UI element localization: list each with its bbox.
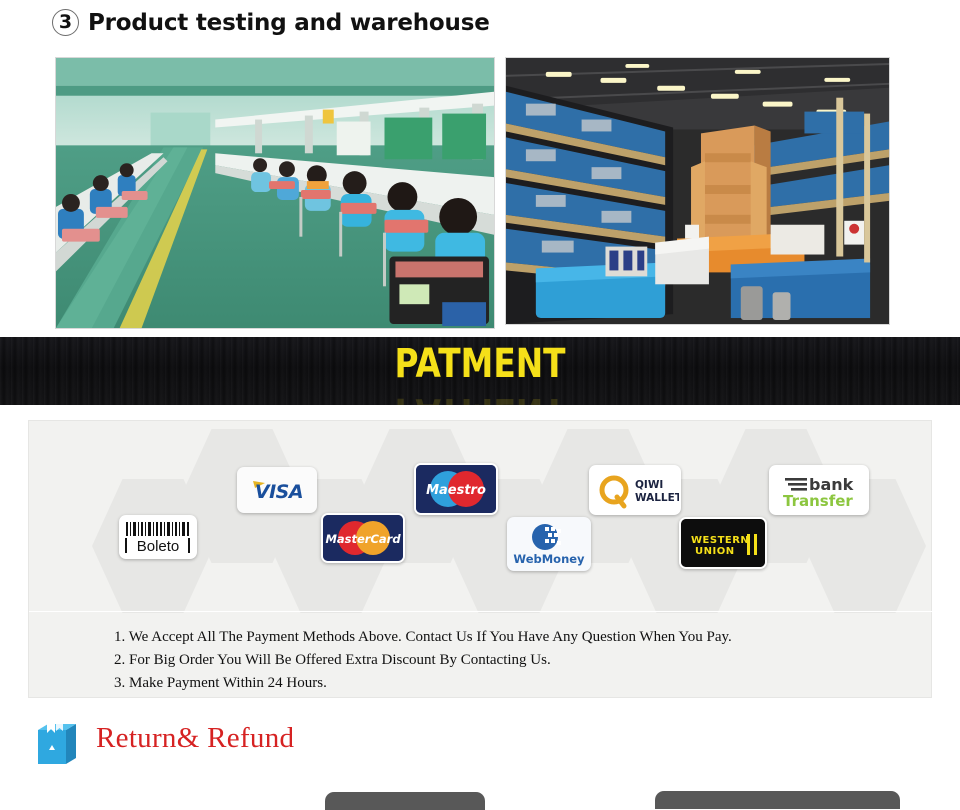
payment-logo-webmoney[interactable]: WebMoney <box>507 517 591 571</box>
return-refund-title: Return& Refund <box>96 722 294 755</box>
svg-text:QIWI: QIWI <box>635 479 663 491</box>
payment-term-1: 1. We Accept All The Payment Methods Abo… <box>114 626 904 649</box>
bottom-pill-left <box>325 792 485 810</box>
payment-banner: PATMENT PATMENT <box>0 337 960 405</box>
svg-text:Transfer: Transfer <box>783 492 853 510</box>
svg-text:WESTERN: WESTERN <box>691 535 749 546</box>
payment-panel-divider <box>29 611 933 612</box>
svg-text:WebMoney: WebMoney <box>513 552 585 566</box>
payment-term-2: 2. For Big Order You Will Be Offered Ext… <box>114 649 904 672</box>
page-title: Product testing and warehouse <box>88 10 490 36</box>
banner-title-reflection: PATMENT <box>86 389 873 405</box>
payment-methods-panel: Boleto VISA MasterCard <box>28 420 932 698</box>
factory-assembly-line-photo <box>55 57 495 329</box>
payment-logo-maestro[interactable]: Maestro <box>414 463 498 515</box>
payment-logo-grid: Boleto VISA MasterCard <box>29 421 933 611</box>
svg-text:VISA: VISA <box>255 481 303 503</box>
payment-logo-bank-transfer[interactable]: bank Transfer <box>769 465 869 515</box>
payment-logo-qiwi-wallet[interactable]: QIWI WALLET <box>589 465 681 515</box>
banner-title: PATMENT <box>86 341 873 387</box>
section-header: 3 Product testing and warehouse <box>0 0 960 45</box>
bottom-pill-right <box>655 791 900 809</box>
svg-text:MasterCard: MasterCard <box>325 532 401 546</box>
payment-logo-mastercard[interactable]: MasterCard <box>321 513 405 563</box>
payment-logo-western-union[interactable]: WESTERN UNION <box>679 517 767 569</box>
package-box-icon <box>36 720 78 766</box>
photo-gallery <box>0 47 960 332</box>
svg-text:Maestro: Maestro <box>426 483 486 498</box>
warehouse-storage-photo <box>505 57 890 325</box>
svg-text:Boleto: Boleto <box>137 538 180 555</box>
payment-logo-boleto[interactable]: Boleto <box>119 515 197 559</box>
return-refund-section: Return& Refund <box>0 716 960 776</box>
svg-text:UNION: UNION <box>695 546 735 557</box>
svg-text:WALLET: WALLET <box>635 492 679 504</box>
payment-logo-visa[interactable]: VISA <box>237 467 317 513</box>
payment-term-3: 3. Make Payment Within 24 Hours. <box>114 672 904 695</box>
section-number-badge: 3 <box>52 9 79 36</box>
payment-terms-list: 1. We Accept All The Payment Methods Abo… <box>114 626 904 694</box>
